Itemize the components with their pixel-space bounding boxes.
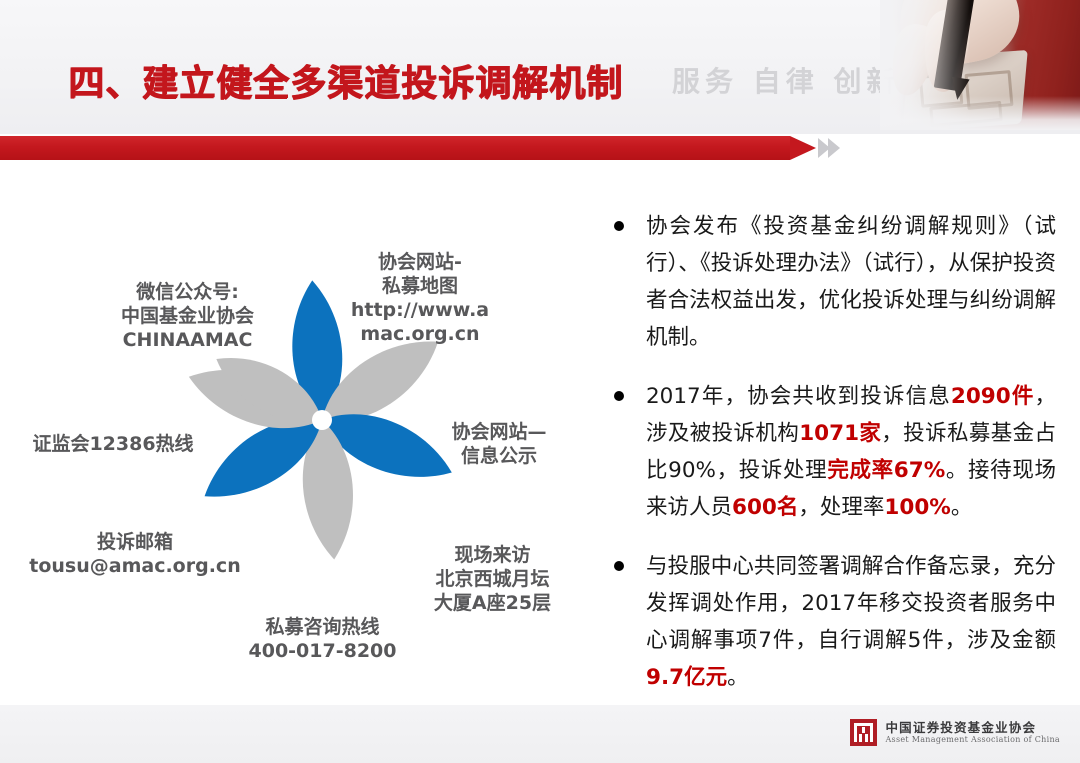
highlighted-figure: 完成率67%	[827, 458, 945, 483]
org-name-cn: 中国证券投资基金业协会	[885, 721, 1060, 735]
bullet-list: 协会发布《投资基金纠纷调解规则》（试行）、《投诉处理办法》（试行），从保护投资者…	[604, 208, 1056, 718]
bullet-text-run: 与投服中心共同签署调解合作备忘录，充分发挥调处作用，2017年移交投资者服务中心…	[646, 554, 1056, 653]
title-underline-bar	[0, 136, 840, 160]
highlighted-figure: 2090件	[951, 384, 1035, 409]
petal-label-complaint-email: 投诉邮箱 tousu@amac.org.cn	[0, 530, 270, 578]
chevron-right-icon	[828, 138, 840, 158]
channel-petal-diagram: 微信公众号: 中国基金业协会 CHINAAMAC 协会网站- 私募地图 http…	[0, 160, 600, 700]
bullet-rules: 协会发布《投资基金纠纷调解规则》（试行）、《投诉处理办法》（试行），从保护投资者…	[604, 208, 1056, 356]
bullet-text-run: 2017年，协会共收到投诉信息	[646, 384, 951, 409]
red-rule-arrow-tip	[790, 136, 816, 160]
highlighted-figure: 100%	[884, 495, 950, 520]
petal-label-website-info: 协会网站— 信息公示	[404, 420, 594, 468]
petal-label-pe-hotline: 私募咨询热线 400-017-8200	[215, 615, 430, 663]
page-title: 四、建立健全多渠道投诉调解机制	[68, 60, 623, 108]
highlighted-figure: 1071家	[799, 421, 881, 446]
petal-label-website-map: 协会网站- 私募地图 http://www.a mac.org.cn	[320, 250, 520, 346]
highlighted-figure: 600名	[732, 495, 798, 520]
bullet-dot-icon	[614, 221, 624, 231]
bullet-text-run: 。	[951, 495, 973, 520]
red-rule	[0, 136, 790, 160]
amac-seal-icon	[850, 719, 877, 746]
petal-label-csrc-hotline: 证监会12386热线	[8, 432, 218, 456]
slide-footer: 中国证券投资基金业协会 Asset Management Association…	[0, 705, 1080, 763]
flower-center	[312, 410, 332, 430]
bullet-text-run: ，处理率	[798, 495, 884, 520]
bullet-text-run: 。	[727, 665, 749, 690]
bullet-dot-icon	[614, 391, 624, 401]
highlighted-figure: 9.7亿元	[646, 665, 727, 690]
bullet-text-run: 协会发布《投资基金纠纷调解规则》（试行）、《投诉处理办法》（试行），从保护投资者…	[646, 214, 1056, 350]
amac-logo-text: 中国证券投资基金业协会 Asset Management Association…	[885, 721, 1060, 745]
bullet-dot-icon	[614, 561, 624, 571]
header-seal-carving-photo	[880, 0, 1080, 130]
amac-logo: 中国证券投资基金业协会 Asset Management Association…	[850, 719, 1060, 746]
bullet-stats-2017: 2017年，协会共收到投诉信息2090件，涉及被投诉机构1071家，投诉私募基金…	[604, 378, 1056, 526]
bullet-mou: 与投服中心共同签署调解合作备忘录，充分发挥调处作用，2017年移交投资者服务中心…	[604, 548, 1056, 696]
slogan-watermark: 服务 自律 创新	[672, 60, 900, 100]
petal-label-wechat: 微信公众号: 中国基金业协会 CHINAAMAC	[80, 280, 295, 352]
petal-label-onsite-visit: 现场来访 北京西城月坛 大厦A座25层	[400, 543, 585, 615]
slide-body: 微信公众号: 中国基金业协会 CHINAAMAC 协会网站- 私募地图 http…	[0, 160, 1080, 700]
photo-bottom-fade	[880, 96, 1080, 130]
org-name-en: Asset Management Association of China	[885, 735, 1060, 744]
slide-header: 服务 自律 创新 四、建立健全多渠道投诉调解机制	[0, 0, 1080, 134]
